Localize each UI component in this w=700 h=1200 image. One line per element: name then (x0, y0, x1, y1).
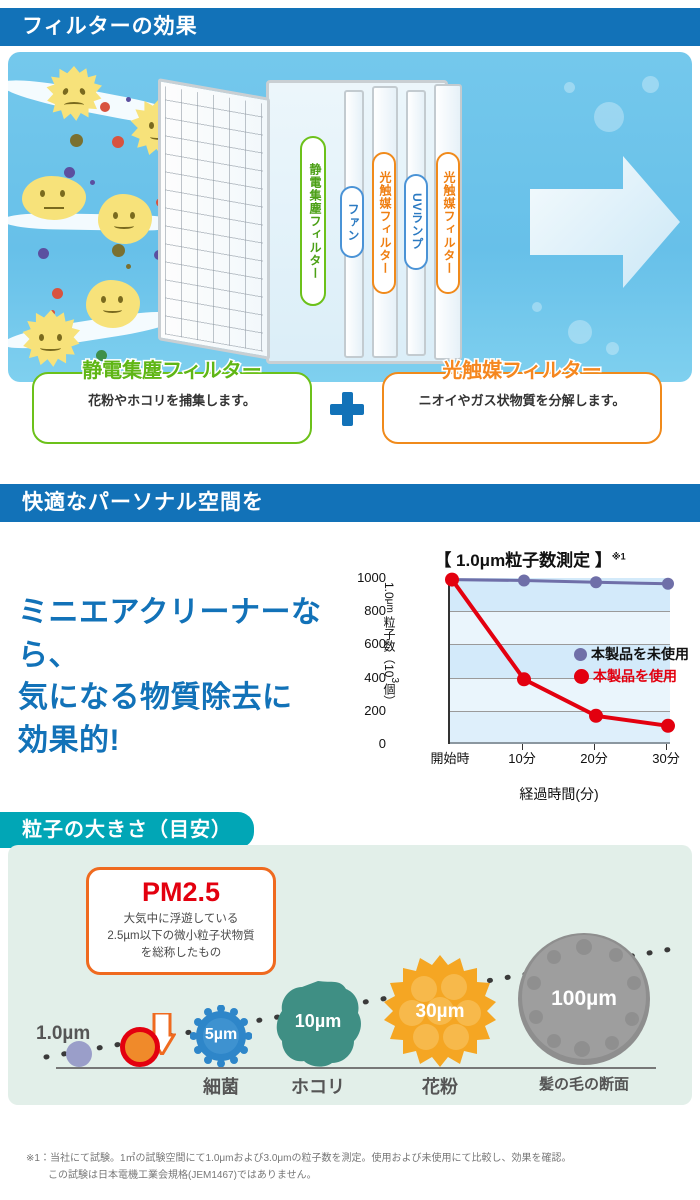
particle-dot (90, 180, 95, 185)
pollen-character (46, 66, 102, 122)
footnote-line-1: ※1：当社にて試験。1㎥の試験空間にて1.0μmおよび3.0μmの粒子数を測定。… (26, 1153, 572, 1164)
particle-dot (38, 248, 49, 259)
electrostatic-filter-mesh (158, 78, 270, 360)
germ-character (22, 176, 86, 220)
section-header-filter-effect: フィルターの効果 (0, 8, 700, 46)
section-header-comfort-space: 快適なパーソナル空間を (0, 484, 700, 522)
device-label-uv-lamp: UVランプ (404, 174, 428, 270)
device-label-photocatalyst-filter-2: 光触媒フィルター (436, 152, 460, 294)
chart-ytick: 200 (342, 703, 386, 718)
character-face (22, 310, 80, 368)
particle-name-hair: 髪の毛の断面 (516, 1073, 652, 1094)
series-point-used (517, 672, 531, 686)
callout-line-3: を総称したもの (95, 945, 267, 962)
chart-xtick: 30分 (638, 748, 694, 767)
series-point-used (661, 719, 675, 733)
bubble-decoration (594, 102, 624, 132)
callout-title: PM2.5 (95, 878, 267, 908)
series-point-used (589, 709, 603, 723)
chart-title: 【 1.0μm粒子数測定 】※1 (372, 546, 688, 571)
chart-xtick: 開始時 (422, 748, 478, 767)
pollen-character (22, 310, 80, 368)
legend-item-unused: 本製品を未使用 (574, 644, 689, 664)
particle-size-label: 100µm (516, 987, 652, 1011)
filter-illustration-panel: 静電集塵フィルター ファン 光触媒フィルター UVランプ 光触媒フィルター (8, 52, 692, 382)
headline-line-3: 効果的! (18, 720, 348, 763)
chart-ytick: 1000 (342, 570, 386, 585)
particle-size-panel: PM2.5 大気中に浮遊している 2.5µm以下の微小粒子状物質 を総称したもの… (8, 845, 692, 1105)
result-subtitle: 花粉やホコリを捕集します。 (34, 390, 310, 409)
particle-dot (126, 264, 131, 269)
headline-text: ミニエアクリーナーなら、 気になる物質除去に 効果的! (18, 592, 348, 762)
footnote-line-2: この試験は日本電機工業会規格(JEM1467)ではありません。 (26, 1167, 676, 1184)
character-face (22, 176, 86, 220)
particle-dot (100, 102, 110, 112)
particle-name-pollen: 花粉 (384, 1073, 496, 1099)
chart-legend: 本製品を未使用 本製品を使用 (574, 644, 689, 688)
chart-xtick: 20分 (566, 748, 622, 767)
chart-title-note: ※1 (612, 551, 626, 561)
particle-size-label: 10µm (274, 1011, 362, 1032)
air-cleaner-device: 静電集塵フィルター ファン 光触媒フィルター UVランプ 光触媒フィルター (158, 74, 558, 364)
pm25-callout: PM2.5 大気中に浮遊している 2.5µm以下の微小粒子状物質 を総称したもの (86, 867, 276, 975)
character-face (46, 66, 102, 122)
character-face (98, 194, 152, 244)
result-box-electrostatic: 静電集塵フィルター 花粉やホコリを捕集します。 (32, 372, 312, 444)
legend-label-used: 本製品を使用 (593, 666, 677, 686)
footnote: ※1：当社にて試験。1㎥の試験空間にて1.0μmおよび3.0μmの粒子数を測定。… (26, 1150, 676, 1184)
series-point-unused (518, 575, 530, 587)
result-title: 光触媒フィルター (384, 361, 660, 381)
section-header-particle-size: 粒子の大きさ（目安） (0, 812, 254, 848)
character-face (86, 280, 140, 328)
series-point-unused (590, 576, 602, 588)
particle-name-bacteria: 細菌 (190, 1073, 252, 1099)
germ-character (98, 194, 152, 244)
particle-dot (126, 97, 131, 102)
bubble-decoration (642, 76, 659, 93)
chart-ytick: 0 (342, 736, 386, 751)
plus-icon (330, 392, 364, 426)
particle-count-chart: 【 1.0μm粒子数測定 】※1 1.0μm 粒子数（103個） (372, 546, 688, 808)
particle-marker-pm25 (120, 1027, 160, 1067)
chart-ytick: 800 (342, 603, 386, 618)
mesh-grid (165, 86, 263, 351)
bubble-decoration (568, 320, 592, 344)
particle-dot (112, 244, 125, 257)
device-label-electrostatic-filter: 静電集塵フィルター (300, 136, 326, 306)
callout-line-1: 大気中に浮遊している (95, 911, 267, 928)
result-title: 静電集塵フィルター (34, 361, 310, 381)
particle-size-label: 30µm (384, 1001, 496, 1023)
series-point-used (445, 573, 459, 587)
device-label-fan: ファン (340, 186, 364, 258)
particle-hair-cross-section: 100µm (516, 931, 652, 1067)
particle-name-dust: ホコリ (274, 1073, 362, 1099)
series-point-unused (662, 578, 674, 590)
device-label-photocatalyst-filter-1: 光触媒フィルター (372, 152, 396, 294)
particle-marker-small (66, 1041, 92, 1067)
germ-character (86, 280, 140, 328)
particle-dot (52, 288, 63, 299)
chart-ytick: 600 (342, 636, 386, 651)
headline-line-1: ミニエアクリーナーなら、 (18, 592, 348, 677)
particle-dust: 10µm (274, 979, 362, 1067)
particle-pollen: 30µm (384, 955, 496, 1067)
particle-dot (70, 134, 83, 147)
legend-label-unused: 本製品を未使用 (591, 644, 689, 664)
legend-dot-red-icon (574, 669, 589, 684)
callout-body: 大気中に浮遊している 2.5µm以下の微小粒子状物質 を総称したもの (95, 911, 267, 963)
legend-dot-purple-icon (574, 648, 587, 661)
size-baseline (56, 1067, 656, 1069)
result-box-photocatalyst: 光触媒フィルター ニオイやガス状物質を分解します。 (382, 372, 662, 444)
chart-xtick: 10分 (494, 748, 550, 767)
chart-ytick: 400 (342, 670, 386, 685)
legend-item-used: 本製品を使用 (574, 666, 689, 686)
callout-line-2: 2.5µm以下の微小粒子状物質 (95, 928, 267, 945)
bubble-decoration (564, 82, 575, 93)
chart-title-text: 【 1.0μm粒子数測定 】 (434, 551, 612, 570)
infographic-page: フィルターの効果 (0, 0, 700, 1200)
chart-x-axis-label: 経過時間(分) (448, 784, 670, 804)
headline-line-2: 気になる物質除去に (18, 677, 348, 720)
particle-dot (112, 136, 124, 148)
particle-size-label: 5µm (190, 1026, 252, 1044)
bubble-decoration (606, 342, 619, 355)
particle-bacteria: 5µm (190, 1005, 252, 1067)
series-line-unused (452, 580, 668, 584)
result-subtitle: ニオイやガス状物質を分解します。 (384, 390, 660, 409)
chart-plot-area: 本製品を未使用 本製品を使用 (448, 578, 670, 744)
